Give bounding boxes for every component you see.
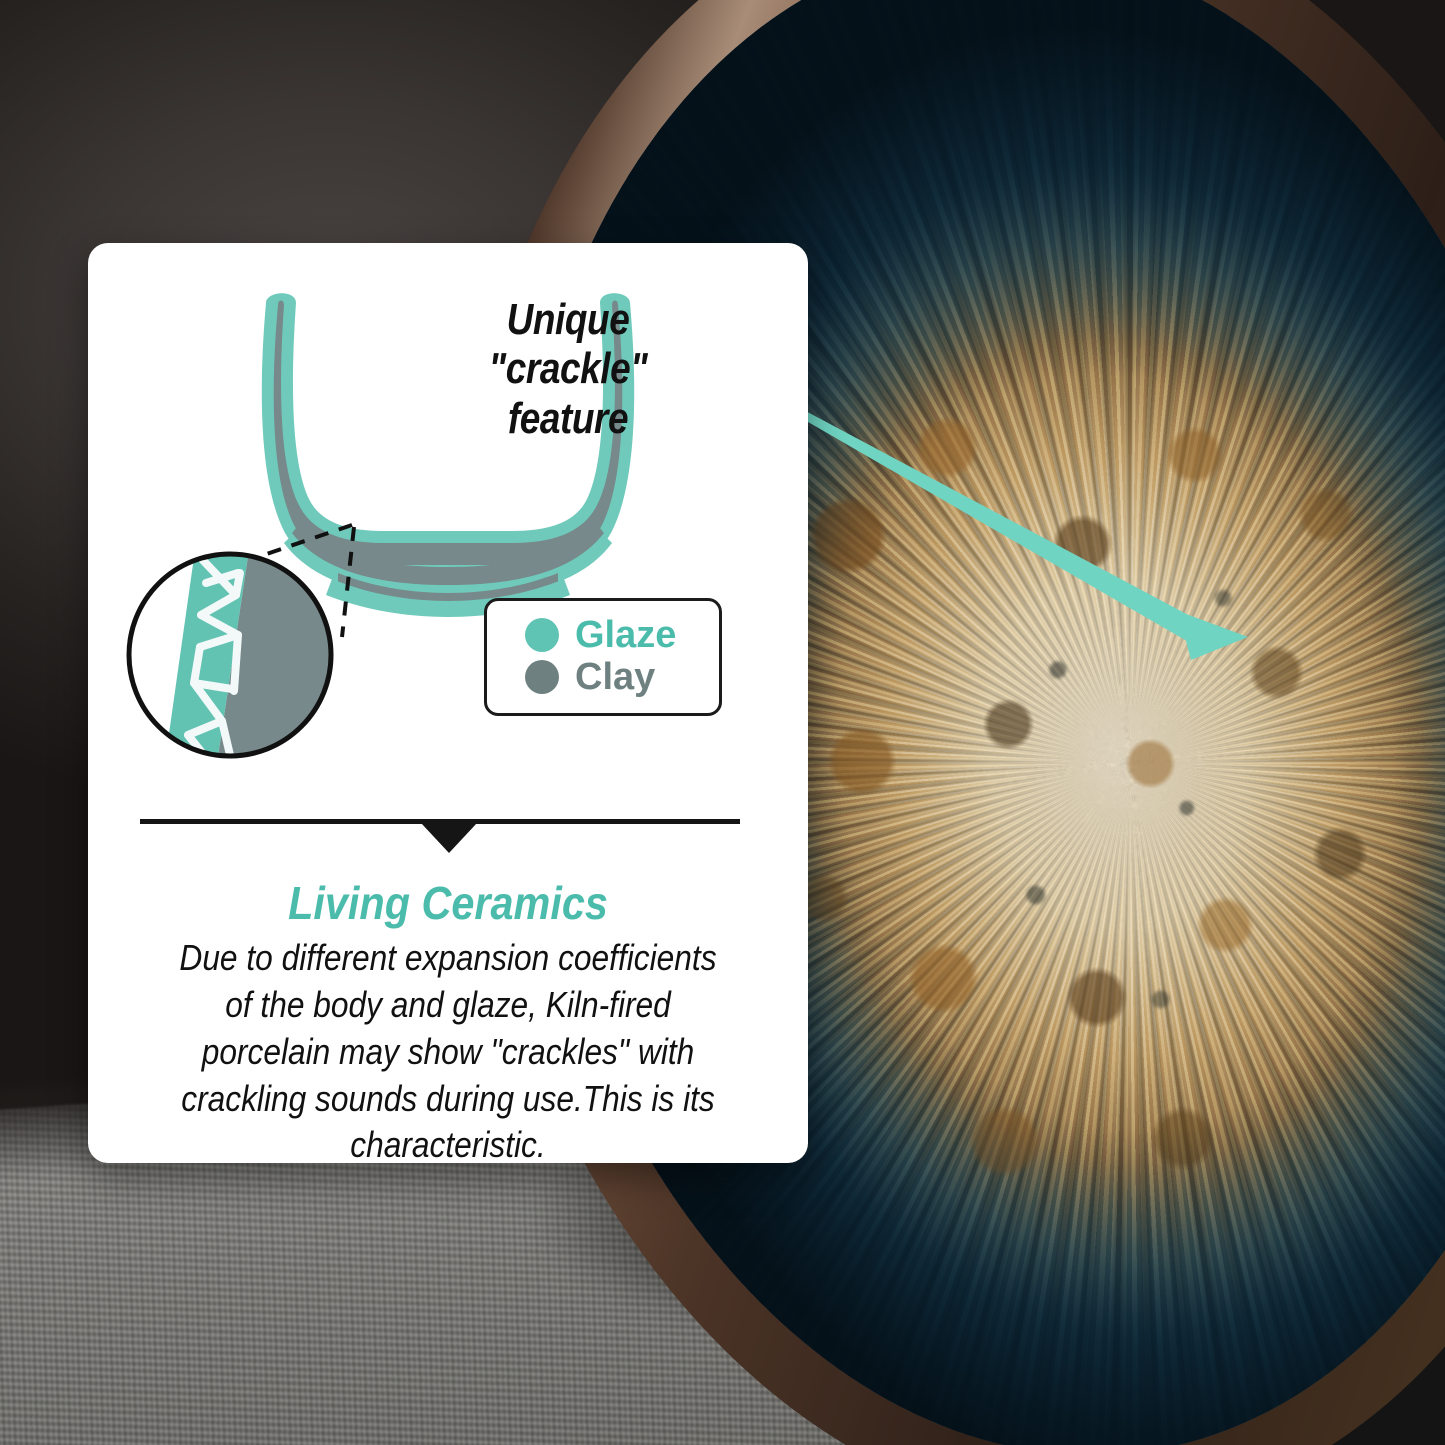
legend: Glaze Clay — [484, 598, 722, 716]
legend-label-glaze: Glaze — [575, 616, 676, 654]
info-card: Unique "crackle" feature Glaze Clay — [88, 243, 808, 1163]
card-text-area: Living Ceramics Due to different expansi… — [88, 879, 808, 1163]
legend-label-clay: Clay — [575, 658, 655, 696]
body-copy: Due to different expansion coefficients … — [163, 935, 733, 1163]
bowl-cross-section-diagram — [88, 243, 808, 803]
card-diagram-area: Unique "crackle" feature Glaze Clay — [88, 243, 808, 803]
section-divider — [88, 805, 808, 843]
section-title: Living Ceramics — [156, 879, 739, 927]
legend-item-clay: Clay — [487, 656, 719, 698]
divider-triangle-icon — [421, 823, 477, 853]
legend-item-glaze: Glaze — [487, 614, 719, 656]
page-title: Unique "crackle" feature — [467, 295, 669, 443]
headline-line-2: "crackle" — [467, 344, 669, 393]
headline-line-3: feature — [467, 394, 669, 443]
clay-dot-icon — [525, 660, 559, 694]
infographic-canvas: Unique "crackle" feature Glaze Clay — [0, 0, 1445, 1445]
headline-line-1: Unique — [467, 295, 669, 344]
crackle-magnifier-detail — [129, 543, 356, 783]
glaze-dot-icon — [525, 618, 559, 652]
